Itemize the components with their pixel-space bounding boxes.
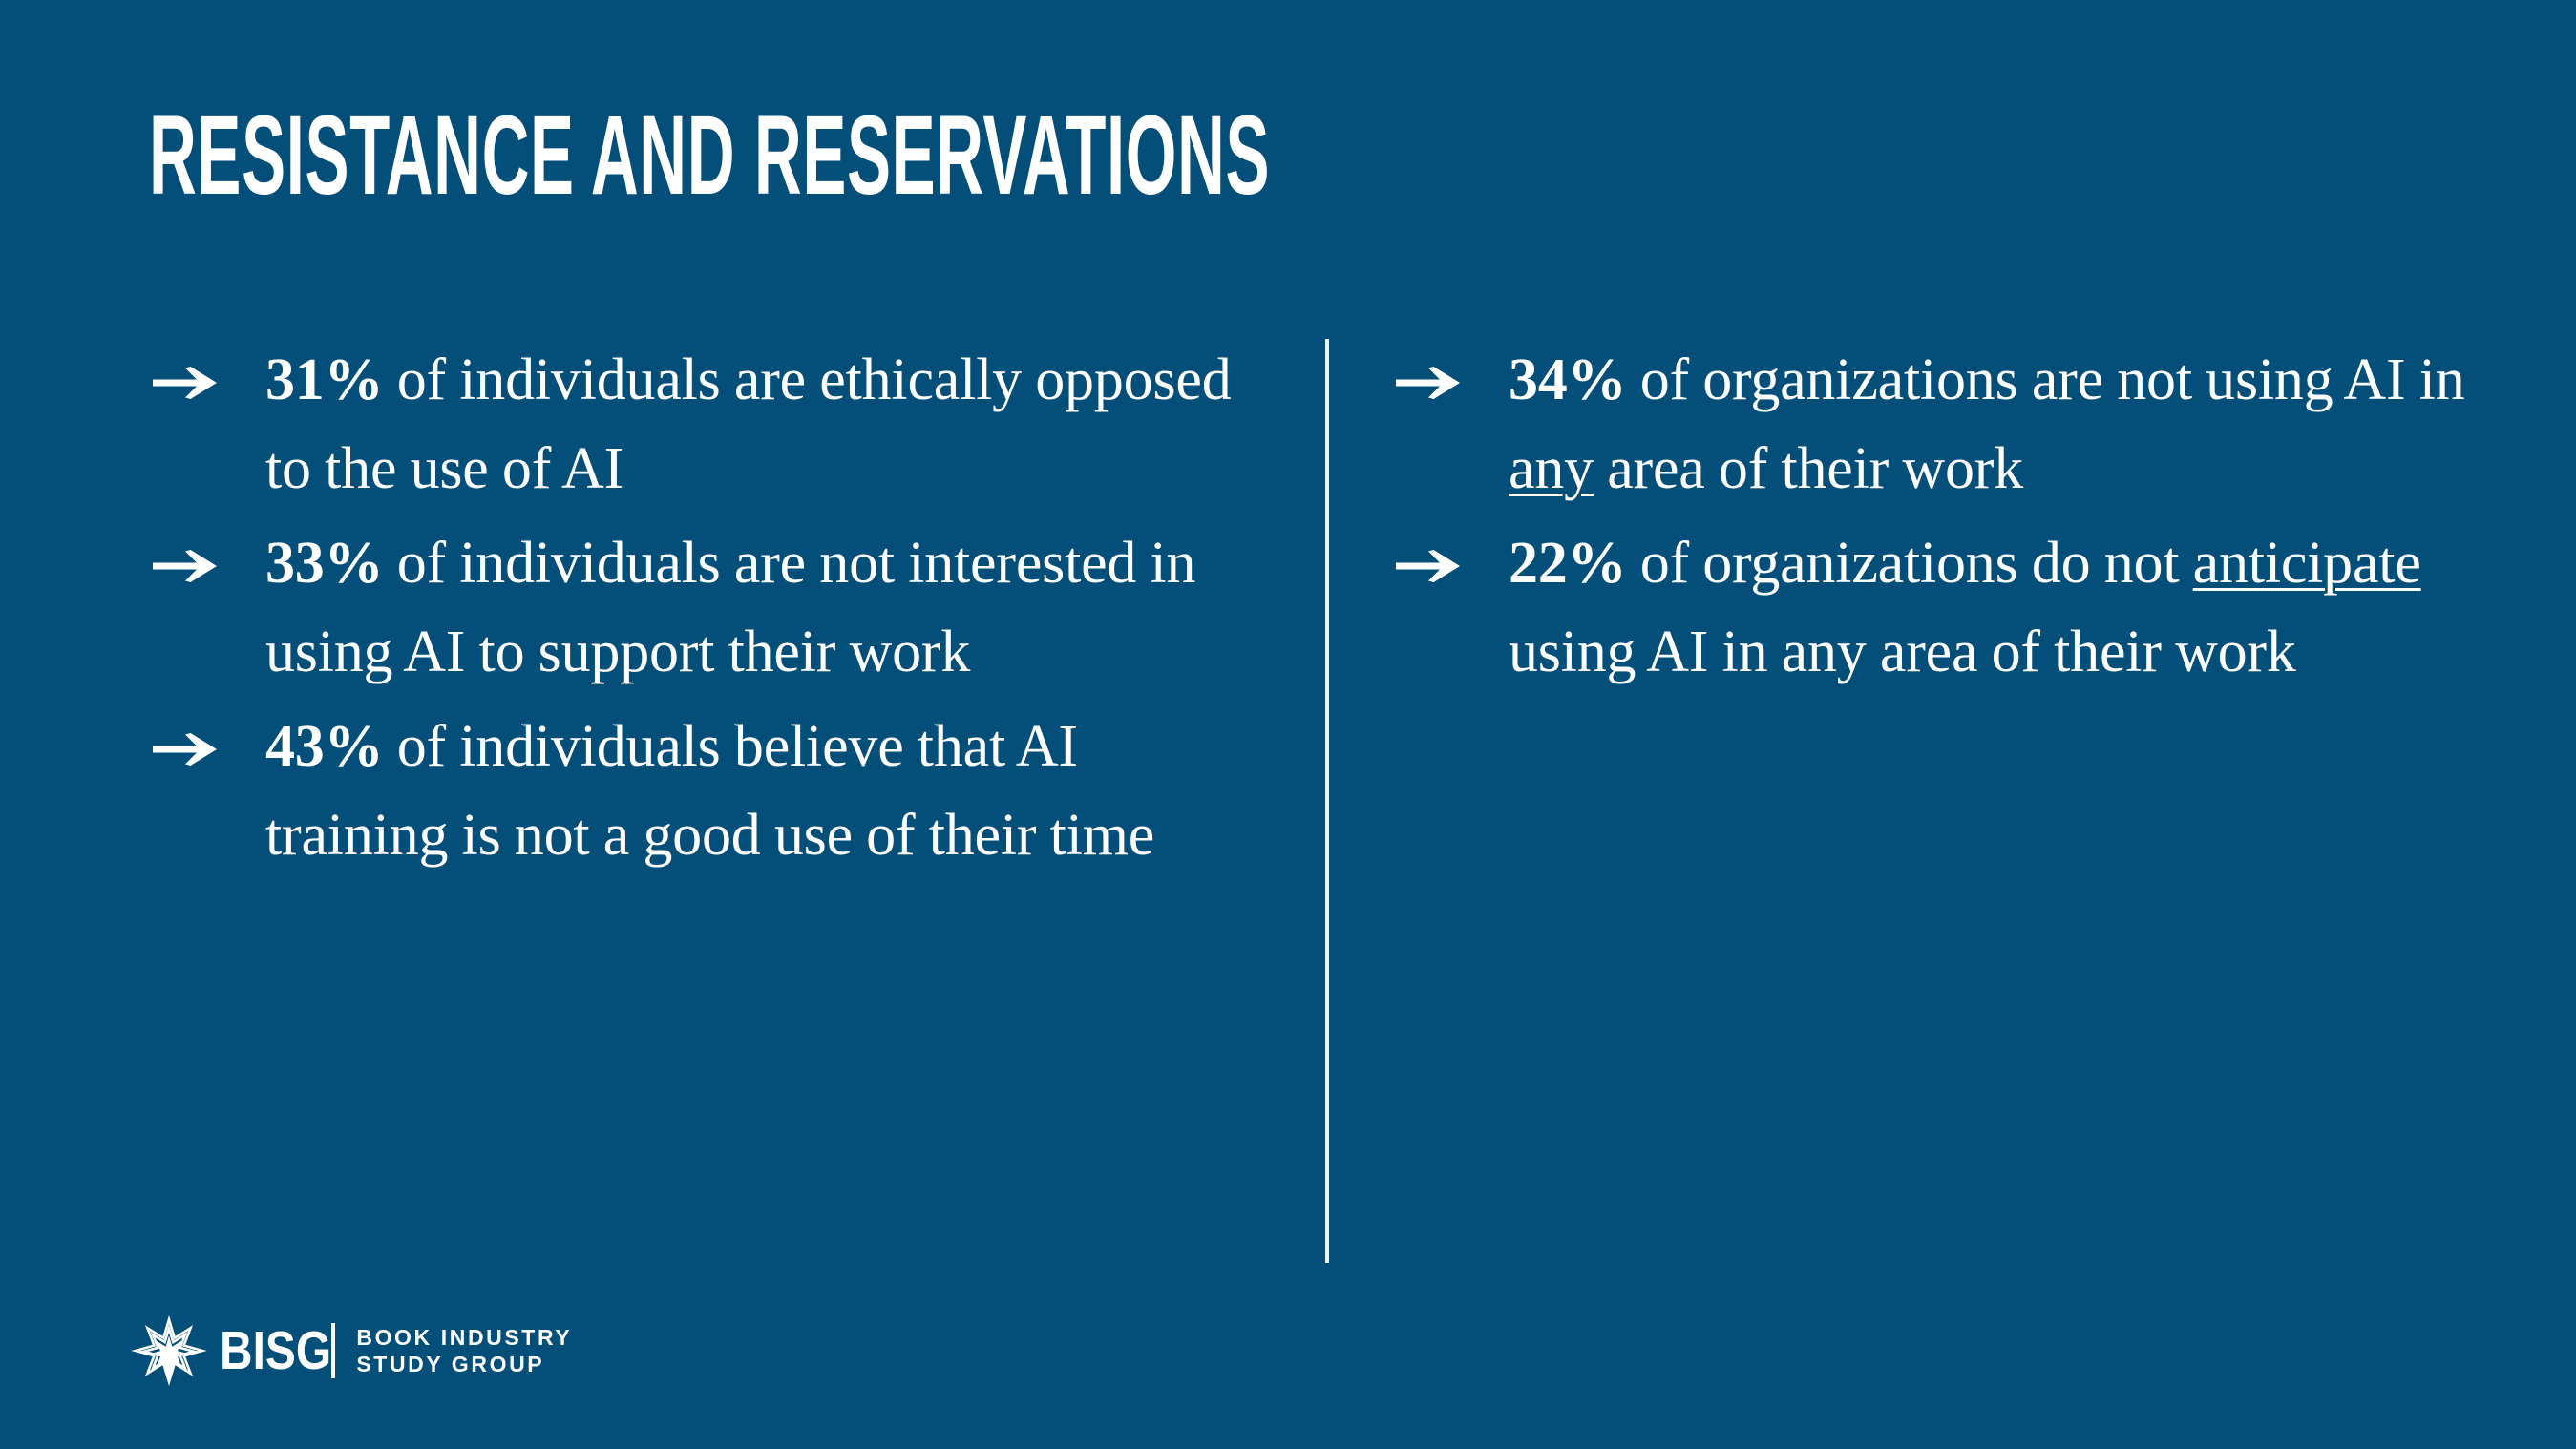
stat-description-after: area of their work — [1594, 436, 2023, 501]
arrow-right-icon — [1396, 336, 1509, 399]
list-item-text: 34% of organizations are not using AI in… — [1509, 336, 2518, 514]
stat-description: of individuals are ethically opposed to … — [265, 347, 1232, 501]
logo-wordmark: BISG — [220, 1324, 331, 1378]
stat-description: of individuals are not interested in usi… — [265, 531, 1195, 684]
page-title: RESISTANCE AND RESERVATIONS — [149, 99, 1270, 212]
content-columns: 31% of individuals are ethically opposed… — [0, 336, 2576, 1271]
list-item-text: 22% of organizations do not anticipate u… — [1509, 519, 2518, 697]
list-item: 33% of individuals are not interested in… — [153, 519, 1241, 697]
bisg-starburst-icon — [130, 1313, 208, 1388]
emphasis-text: anticipate — [2193, 531, 2421, 596]
arrow-right-icon — [153, 336, 265, 399]
stat-description: of individuals believe that AI training … — [265, 714, 1154, 868]
list-item-text: 33% of individuals are not interested in… — [265, 519, 1241, 697]
logo-divider — [331, 1323, 335, 1378]
logo-tagline-line1: BOOK INDUSTRY — [356, 1325, 572, 1350]
list-item-text: 31% of individuals are ethically opposed… — [265, 336, 1241, 514]
stat-value: 22% — [1509, 531, 1626, 596]
logo-tagline-line2: STUDY GROUP — [356, 1352, 544, 1376]
list-item: 31% of individuals are ethically opposed… — [153, 336, 1241, 514]
list-item: 43% of individuals believe that AI train… — [153, 703, 1241, 880]
arrow-right-icon — [153, 703, 265, 766]
emphasis-text: any — [1509, 436, 1594, 501]
stat-description-before: of organizations do not — [1626, 531, 2192, 596]
arrow-right-icon — [153, 519, 265, 582]
right-column: 34% of organizations are not using AI in… — [1396, 336, 2518, 703]
bisg-logo: BISG BOOK INDUSTRY STUDY GROUP — [130, 1313, 572, 1388]
list-item-text: 43% of individuals believe that AI train… — [265, 703, 1241, 880]
stat-description-after: using AI in any area of their work — [1509, 619, 2296, 684]
stat-value: 34% — [1509, 347, 1626, 412]
left-column: 31% of individuals are ethically opposed… — [153, 336, 1241, 886]
stat-description-before: of organizations are not using AI in — [1626, 347, 2464, 412]
stat-value: 31% — [265, 347, 383, 412]
list-item: 22% of organizations do not anticipate u… — [1396, 519, 2518, 697]
list-item: 34% of organizations are not using AI in… — [1396, 336, 2518, 514]
slide: RESISTANCE AND RESERVATIONS 31% of indiv… — [0, 0, 2576, 1449]
stat-value: 43% — [265, 714, 383, 779]
stat-value: 33% — [265, 531, 383, 596]
arrow-right-icon — [1396, 519, 1509, 582]
logo-tagline: BOOK INDUSTRY STUDY GROUP — [356, 1324, 572, 1377]
